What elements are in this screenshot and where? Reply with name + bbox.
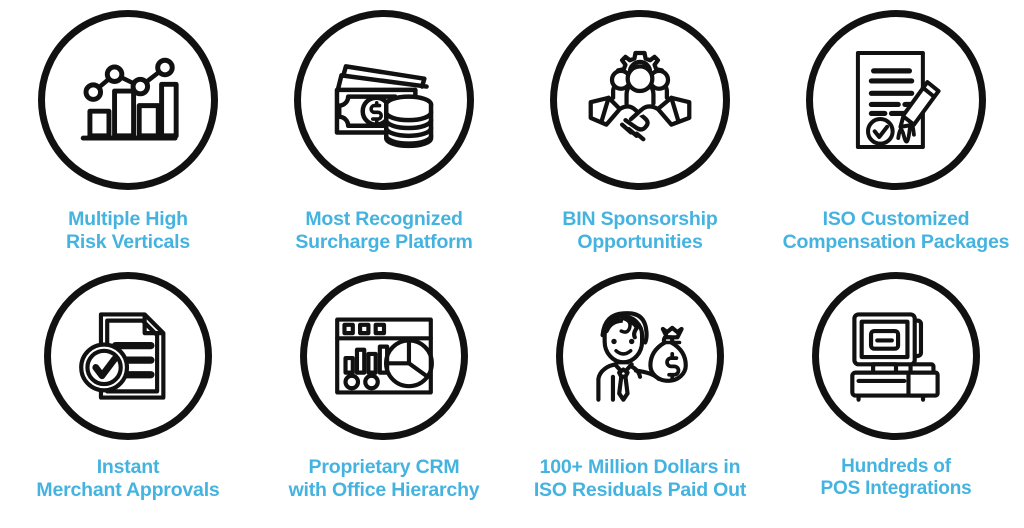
feature-label: 100+ Million Dollars in ISO Residuals Pa… bbox=[534, 456, 746, 502]
feature-label: BIN Sponsorship Opportunities bbox=[562, 208, 717, 254]
cash-bills-coins-icon bbox=[328, 44, 440, 156]
bar-chart-line-graph-icon bbox=[72, 44, 184, 156]
pos-terminal-computer-icon bbox=[844, 304, 948, 408]
icon-circle bbox=[38, 10, 218, 190]
icon-circle bbox=[806, 10, 986, 190]
dashboard-analytics-window-icon bbox=[332, 304, 436, 408]
feature-item-bin-sponsorship-opportunities[interactable]: BIN Sponsorship Opportunities bbox=[512, 0, 768, 264]
feature-item-proprietary-crm-with-office-hierarchy[interactable]: Proprietary CRM with Office Hierarchy bbox=[256, 264, 512, 528]
features-row-top: Multiple High Risk Verticals bbox=[0, 0, 1024, 264]
feature-item-most-recognized-surcharge-platform[interactable]: Most Recognized Surcharge Platform bbox=[256, 0, 512, 264]
feature-item-iso-residuals-paid-out[interactable]: 100+ Million Dollars in ISO Residuals Pa… bbox=[512, 264, 768, 528]
feature-item-iso-customized-compensation-packages[interactable]: ISO Customized Compensation Packages bbox=[768, 0, 1024, 264]
features-row-bottom: Instant Merchant Approvals bbox=[0, 264, 1024, 528]
icon-circle bbox=[550, 10, 730, 190]
features-grid: Multiple High Risk Verticals bbox=[0, 0, 1024, 528]
feature-item-instant-merchant-approvals[interactable]: Instant Merchant Approvals bbox=[0, 264, 256, 528]
feature-label: Hundreds of POS Integrations bbox=[821, 456, 972, 501]
feature-label: Multiple High Risk Verticals bbox=[66, 208, 190, 254]
feature-label: Instant Merchant Approvals bbox=[36, 456, 219, 502]
icon-circle bbox=[812, 272, 980, 440]
icon-circle bbox=[556, 272, 724, 440]
handshake-people-gear-icon bbox=[584, 44, 696, 156]
feature-item-multiple-high-risk-verticals[interactable]: Multiple High Risk Verticals bbox=[0, 0, 256, 264]
feature-label: Most Recognized Surcharge Platform bbox=[295, 208, 472, 254]
feature-item-hundreds-of-pos-integrations[interactable]: Hundreds of POS Integrations bbox=[768, 264, 1024, 528]
document-checkmark-icon bbox=[76, 304, 180, 408]
businessman-money-bag-icon bbox=[588, 304, 692, 408]
icon-circle bbox=[44, 272, 212, 440]
feature-label: ISO Customized Compensation Packages bbox=[783, 208, 1010, 254]
contract-document-pen-icon bbox=[840, 44, 952, 156]
feature-label: Proprietary CRM with Office Hierarchy bbox=[289, 456, 480, 502]
icon-circle bbox=[300, 272, 468, 440]
icon-circle bbox=[294, 10, 474, 190]
